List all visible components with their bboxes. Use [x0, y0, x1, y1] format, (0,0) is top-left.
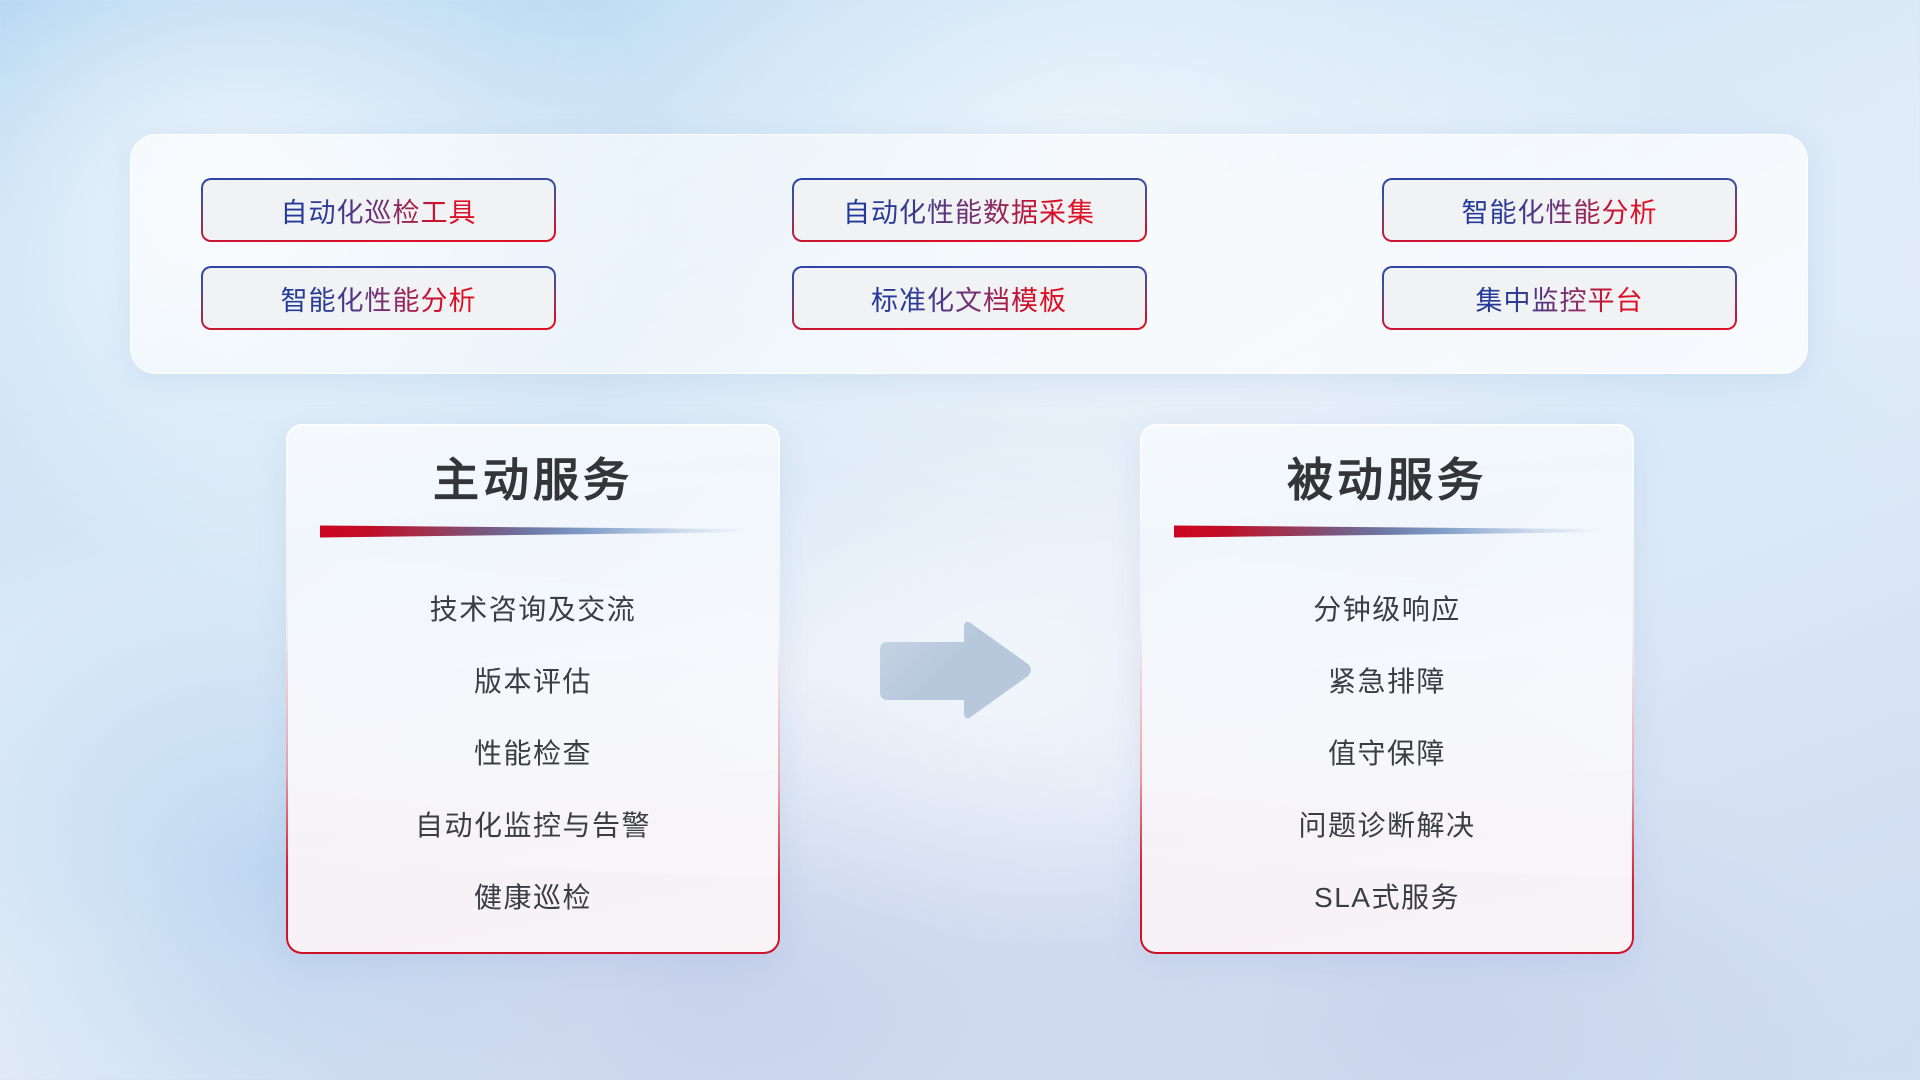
- capability-pill-intelligent-performance-analysis-1[interactable]: 智能化性能分析: [1382, 178, 1737, 242]
- list-item: SLA式服务: [1314, 862, 1460, 934]
- service-card-proactive: 主动服务 技术咨询及交流 版本评估 性能检查 自动化监控与告警 健康巡检: [286, 424, 780, 954]
- arrow-right-icon: [872, 616, 1034, 726]
- capability-pill-automated-inspection-tool[interactable]: 自动化巡检工具: [201, 178, 556, 242]
- gradient-divider: [1174, 524, 1600, 538]
- list-item: 自动化监控与告警: [415, 790, 651, 862]
- list-item: 值守保障: [1328, 718, 1446, 790]
- card-divider-wrap: [1142, 524, 1632, 542]
- list-item: 性能检查: [474, 718, 592, 790]
- card-title: 主动服务: [288, 452, 778, 510]
- capabilities-panel: 自动化巡检工具 自动化性能数据采集 智能化性能分析 智能化性能分析 标准化文档模…: [130, 134, 1808, 374]
- list-item: 版本评估: [474, 646, 592, 718]
- service-list-proactive: 技术咨询及交流 版本评估 性能检查 自动化监控与告警 健康巡检: [288, 568, 778, 934]
- gradient-divider: [320, 524, 746, 538]
- capability-pill-intelligent-performance-analysis-2[interactable]: 智能化性能分析: [201, 266, 556, 330]
- capability-pill-standard-document-template[interactable]: 标准化文档模板: [792, 266, 1147, 330]
- list-item: 技术咨询及交流: [430, 574, 637, 646]
- list-item: 紧急排障: [1328, 646, 1446, 718]
- card-title: 被动服务: [1142, 452, 1632, 510]
- card-divider-wrap: [288, 524, 778, 542]
- capabilities-row-2: 智能化性能分析 标准化文档模板 集中监控平台: [201, 266, 1737, 330]
- capability-pill-label: 集中监控平台: [1476, 279, 1644, 318]
- capability-pill-label: 智能化性能分析: [1462, 191, 1658, 230]
- capability-pill-automated-performance-data-collection[interactable]: 自动化性能数据采集: [792, 178, 1147, 242]
- list-item: 问题诊断解决: [1298, 790, 1475, 862]
- list-item: 分钟级响应: [1313, 574, 1461, 646]
- capabilities-row-1: 自动化巡检工具 自动化性能数据采集 智能化性能分析: [201, 178, 1737, 242]
- list-item: 健康巡检: [474, 862, 592, 934]
- capability-pill-label: 标准化文档模板: [871, 279, 1067, 318]
- service-list-reactive: 分钟级响应 紧急排障 值守保障 问题诊断解决 SLA式服务: [1142, 568, 1632, 934]
- capability-pill-centralized-monitoring-platform[interactable]: 集中监控平台: [1382, 266, 1737, 330]
- capability-pill-label: 自动化性能数据采集: [843, 191, 1095, 230]
- service-card-reactive: 被动服务 分钟级响应 紧急排障 值守保障 问题诊断解决 SLA式服务: [1140, 424, 1634, 954]
- capability-pill-label: 智能化性能分析: [281, 279, 477, 318]
- capability-pill-label: 自动化巡检工具: [281, 191, 477, 230]
